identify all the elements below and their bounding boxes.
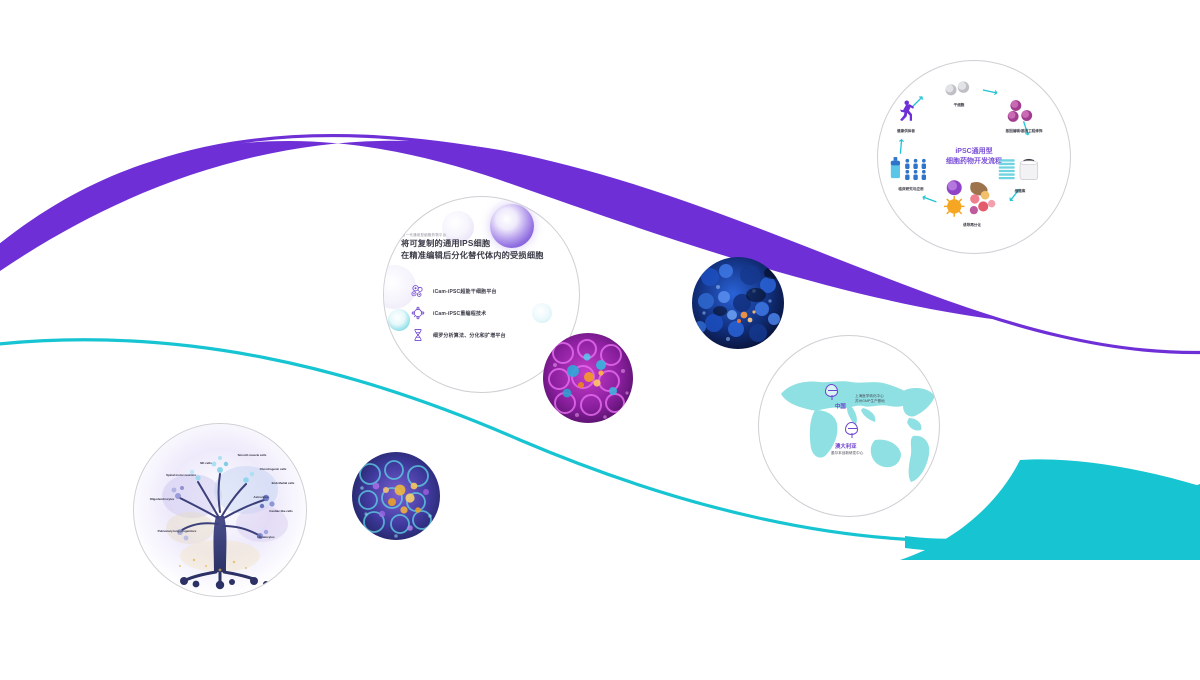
info-eyebrow: 第一代通用型细胞药物平台 xyxy=(402,232,446,237)
tree-label-6: Endothelial cells xyxy=(264,482,302,486)
tree-label-7: Cardiac like cells xyxy=(262,510,300,514)
info-headline: 将可复制的通用IPS细胞 在精准编辑后分化替代体内的受损细胞 xyxy=(401,238,566,262)
tree-label-10: Pulmonary lung progenitors xyxy=(154,530,200,534)
process-arrow-2: ⟶ xyxy=(981,85,999,99)
process-step-6-label: 临床研究与应用 xyxy=(882,187,940,192)
location-sub-australia: 墨尔本创新研发中心 xyxy=(831,451,863,456)
tree-label-9: Astrocytes xyxy=(246,496,276,500)
ipsc-process-circle[interactable]: iPSC通用型 细胞药物开发流程 ⟶ ⟶ ⟶ ⟶ ⟶ ⟶ 健康供体者 xyxy=(877,60,1071,254)
tree-label-8: Hepatocytes xyxy=(248,536,284,540)
cell-colony-icon xyxy=(410,283,426,299)
edited-cells-icon xyxy=(1005,110,1043,127)
process-step-3[interactable]: 基因编辑/基因工程修饰 xyxy=(988,99,1060,134)
map-pin-australia[interactable] xyxy=(845,422,858,435)
process-step-5-label: 诱导再分化 xyxy=(934,223,1010,228)
tree-label-4: Smooth muscle cells xyxy=(232,454,272,458)
micrograph-magenta[interactable] xyxy=(543,333,633,423)
poster-canvas: 第一代通用型细胞药物平台 将可复制的通用IPS细胞 在精准编辑后分化替代体内的受… xyxy=(0,0,1200,680)
feature-item-3[interactable]: 细罗分析算法、分化和扩增平台 xyxy=(410,324,560,346)
location-australia-sub1: 墨尔本创新研发中心 xyxy=(831,451,863,456)
tree-label-5: Chondrogenic cells xyxy=(252,468,294,472)
process-step-6[interactable]: 临床研究与应用 xyxy=(882,157,940,192)
location-name-china: 中国 xyxy=(835,402,846,410)
pin-bar xyxy=(828,390,837,391)
tree-label-2: Spinal motor neurons xyxy=(162,474,200,478)
feature-item-2[interactable]: iCam-iPSC重编程技术 xyxy=(410,302,560,324)
global-sites-map-circle[interactable]: 中国 上海医学转化中心 苏州GMP生产基地 澳大利亚 墨尔本创新研发中心 xyxy=(758,335,940,517)
process-arrow-6: ⟶ xyxy=(896,138,908,155)
info-headline-line1: 将可复制的通用IPS细胞 xyxy=(401,238,566,250)
pin-bar xyxy=(848,428,857,429)
feature-label-2: iCam-iPSC重编程技术 xyxy=(433,310,486,317)
process-step-2[interactable]: 干细胞 xyxy=(936,81,982,108)
feature-item-1[interactable]: iCam-iPSC超能干细胞平台 xyxy=(410,280,560,302)
tree-label-3: NK cells xyxy=(192,462,220,466)
runner-icon xyxy=(897,110,915,127)
pin-head-icon xyxy=(845,422,858,435)
process-step-1[interactable]: 健康供体者 xyxy=(884,99,928,134)
location-sub-china: 上海医学转化中心 苏州GMP生产基地 xyxy=(855,394,885,404)
feature-label-1: iCam-iPSC超能干细胞平台 xyxy=(433,288,497,295)
micrograph-magenta-image xyxy=(543,333,633,423)
stem-cell-icon xyxy=(941,84,977,101)
micrograph-blue-image xyxy=(692,257,784,349)
process-step-3-label: 基因编辑/基因工程修饰 xyxy=(988,129,1060,134)
dna-helix-icon xyxy=(410,327,426,343)
platform-feature-list: iCam-iPSC超能干细胞平台 xyxy=(410,280,560,346)
tree-label-1: Oligodendrocytes xyxy=(140,498,184,502)
info-headline-line2: 在精准编辑后分化替代体内的受损细胞 xyxy=(401,250,566,262)
location-china-sub2: 苏州GMP生产基地 xyxy=(855,399,885,404)
clinic-icon xyxy=(889,168,933,185)
cell-blob-teal-small xyxy=(388,309,410,331)
gene-edit-icon xyxy=(410,305,426,321)
process-step-1-label: 健康供体者 xyxy=(884,129,928,134)
micrograph-violet-image xyxy=(352,452,440,540)
feature-label-3: 细罗分析算法、分化和扩增平台 xyxy=(433,332,506,339)
map-pin-china[interactable] xyxy=(825,384,838,397)
differentiation-icon xyxy=(943,204,1001,221)
lineage-tree-circle[interactable]: Oligodendrocytes Spinal motor neurons NK… xyxy=(133,423,307,597)
pin-head-icon xyxy=(825,384,838,397)
location-name-australia: 澳大利亚 xyxy=(835,442,857,450)
micrograph-blue[interactable] xyxy=(692,257,784,349)
micrograph-violet[interactable] xyxy=(352,452,440,540)
process-step-2-label: 干细胞 xyxy=(936,103,982,108)
process-step-5[interactable]: 诱导再分化 xyxy=(934,179,1010,228)
